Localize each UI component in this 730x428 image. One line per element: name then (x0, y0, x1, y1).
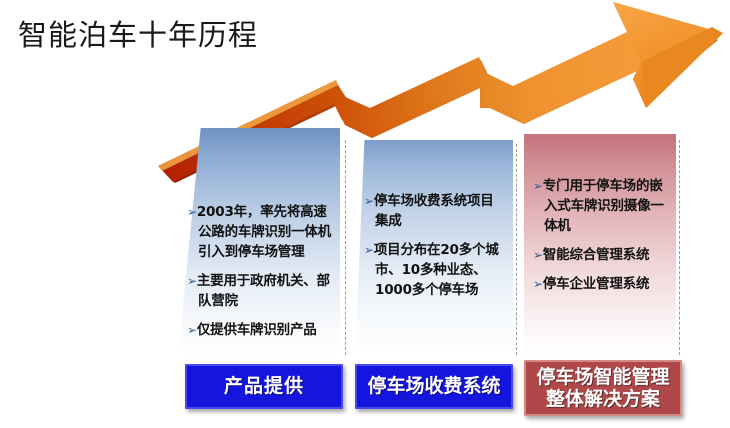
list-item: ➢项目分布在20多个城市、10多种业态、1000多个停车场 (364, 241, 504, 301)
list-item: ➢2003年，率先将高速公路的车牌识别一体机引入到停车场管理 (187, 203, 331, 263)
list-item: ➢停车场收费系统项目集成 (364, 192, 504, 232)
panel-1-bullet-list: ➢2003年，率先将高速公路的车牌识别一体机引入到停车场管理 ➢主要用于政府机关… (178, 203, 340, 350)
stage-label-button-1[interactable]: 产品提供 (185, 364, 343, 409)
stage-label-button-3[interactable]: 停车场智能管理 整体解决方案 (524, 360, 682, 416)
panel-3-bullet-list: ➢专门用于停车场的嵌入式车牌识别摄像一体机 ➢智能综合管理系统 ➢停车企业管理系… (524, 177, 676, 304)
stage-label-3-text: 停车场智能管理 整体解决方案 (536, 366, 669, 411)
stage-label-2-text: 停车场收费系统 (367, 376, 500, 397)
slide-canvas: 智能泊车十年历程 (0, 0, 730, 428)
stage-label-3-line2: 整体解决方案 (546, 388, 660, 410)
bullet-marker-icon: ➢ (533, 277, 543, 291)
panel-2-bullet-list: ➢停车场收费系统项目集成 ➢项目分布在20多个城市、10多种业态、1000多个停… (355, 192, 513, 310)
panel-divider-2 (516, 144, 517, 355)
bullet-marker-icon: ➢ (187, 323, 197, 337)
list-item: ➢专门用于停车场的嵌入式车牌识别摄像一体机 (533, 177, 667, 237)
stage-label-1-text: 产品提供 (224, 376, 304, 397)
bullet-marker-icon: ➢ (187, 274, 197, 288)
bullet-marker-icon: ➢ (533, 179, 543, 193)
stage-panel-1: ➢2003年，率先将高速公路的车牌识别一体机引入到停车场管理 ➢主要用于政府机关… (178, 128, 340, 356)
page-title: 智能泊车十年历程 (18, 12, 258, 54)
bullet-marker-icon: ➢ (364, 243, 374, 257)
list-item: ➢停车企业管理系统 (533, 275, 667, 295)
list-item: ➢主要用于政府机关、部队营院 (187, 272, 331, 312)
list-item: ➢仅提供车牌识别产品 (187, 321, 331, 341)
stage-label-button-2[interactable]: 停车场收费系统 (355, 364, 513, 409)
stage-panel-3: ➢专门用于停车场的嵌入式车牌识别摄像一体机 ➢智能综合管理系统 ➢停车企业管理系… (524, 134, 676, 356)
panel-divider-3 (679, 140, 680, 355)
bullet-marker-icon: ➢ (187, 205, 197, 219)
list-item: ➢智能综合管理系统 (533, 246, 667, 266)
bullet-marker-icon: ➢ (364, 194, 374, 208)
panel-divider-1 (345, 140, 346, 355)
stage-panel-2: ➢停车场收费系统项目集成 ➢项目分布在20多个城市、10多种业态、1000多个停… (355, 140, 513, 356)
bullet-marker-icon: ➢ (533, 248, 543, 262)
stage-label-3-line1: 停车场智能管理 (536, 366, 669, 388)
